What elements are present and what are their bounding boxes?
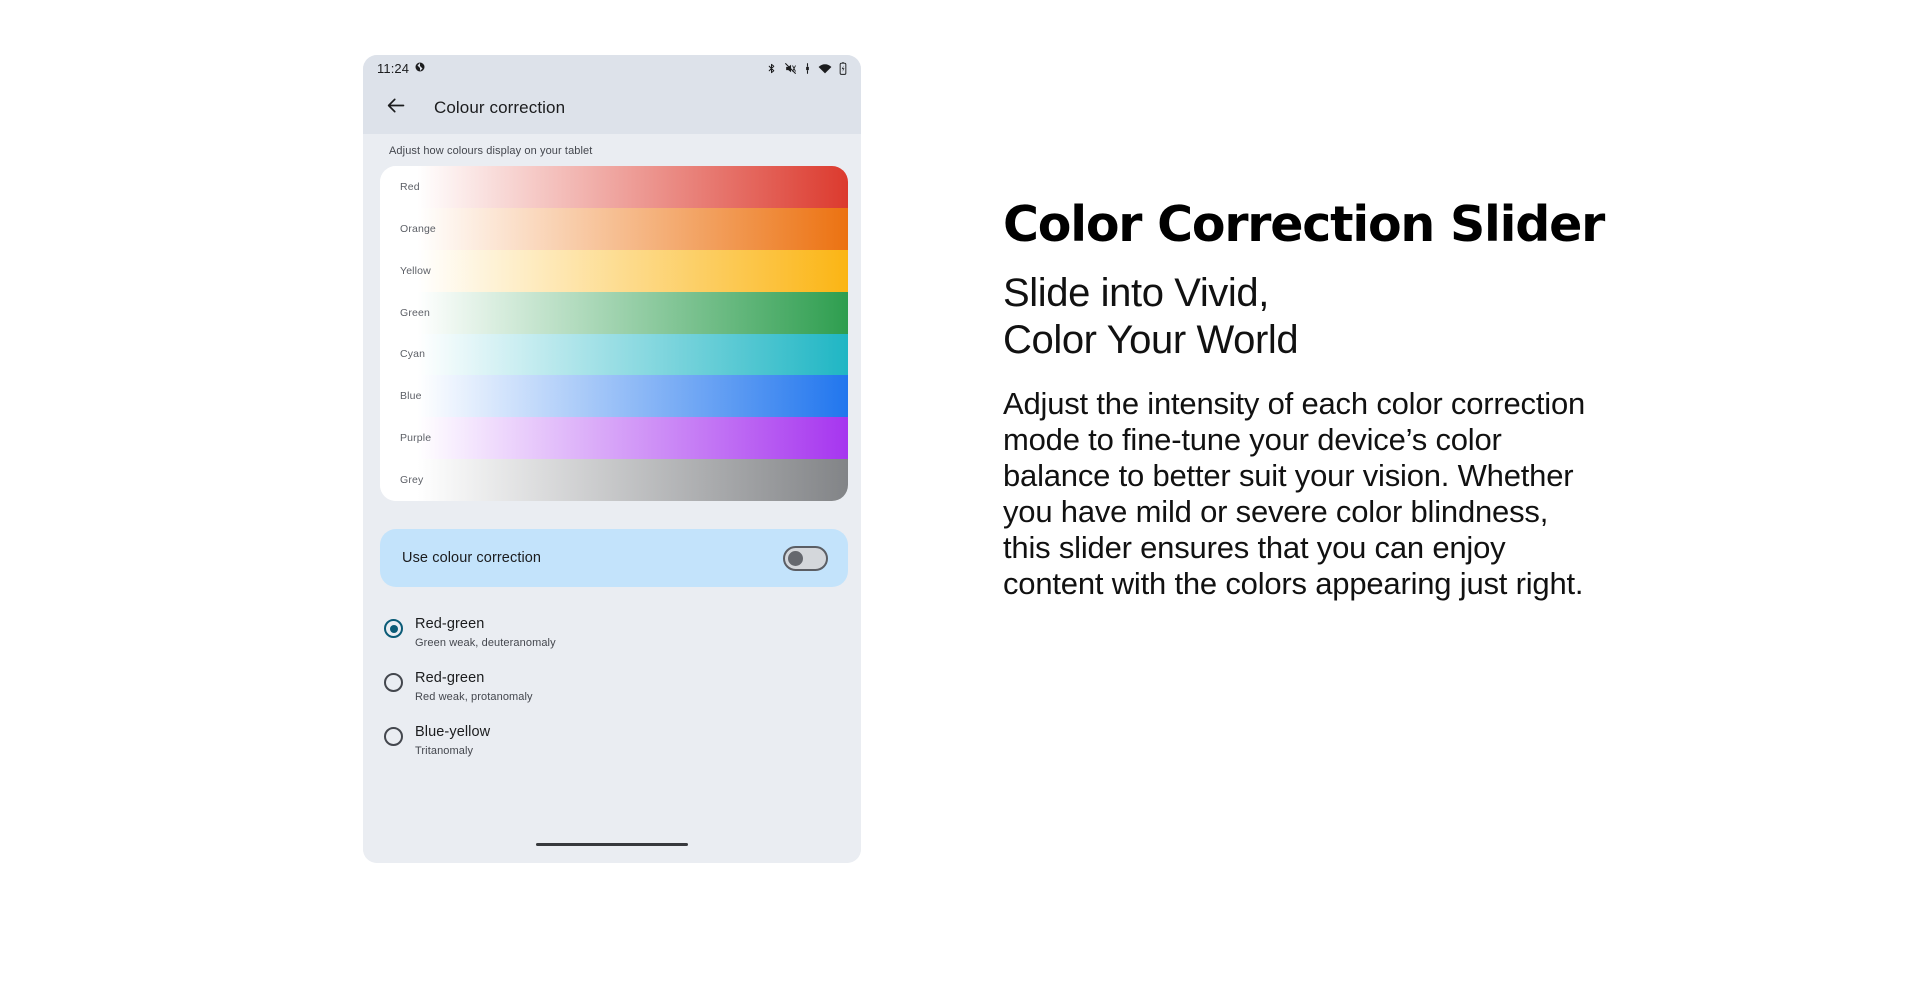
colour-band-grey: Grey <box>380 459 848 501</box>
status-time-group: 11:24 <box>377 61 426 76</box>
marketing-body: Adjust the intensity of each color corre… <box>1003 386 1593 602</box>
use-colour-correction-row[interactable]: Use colour correction <box>380 529 848 587</box>
option-title: Red-green <box>415 669 533 688</box>
marketing-subhead-line1: Slide into Vivid, <box>1003 270 1703 317</box>
colour-band-green: Green <box>380 292 848 334</box>
status-icons <box>766 62 847 75</box>
option-subtitle: Red weak, protanomaly <box>415 691 533 703</box>
page-root: 11:24 <box>0 0 1920 1005</box>
screen-subtitle: Adjust how colours display on your table… <box>363 134 861 166</box>
colour-band-label: Purple <box>380 432 431 444</box>
option-subtitle: Green weak, deuteranomaly <box>415 637 556 649</box>
switch-thumb <box>788 551 803 566</box>
vibrate-icon <box>804 62 811 75</box>
battery-icon <box>839 62 847 75</box>
colour-band-red: Red <box>380 166 848 208</box>
radio-icon[interactable] <box>384 619 403 638</box>
home-indicator[interactable] <box>536 843 688 846</box>
colour-band-label: Cyan <box>380 348 425 360</box>
colour-band-label: Blue <box>380 390 422 402</box>
screen-content: Adjust how colours display on your table… <box>363 134 861 863</box>
colour-band-label: Grey <box>380 474 423 486</box>
back-button[interactable] <box>379 91 413 125</box>
option-red-green-deuteranomaly[interactable]: Red-green Green weak, deuteranomaly <box>381 608 843 662</box>
colour-band-orange: Orange <box>380 208 848 250</box>
option-subtitle: Tritanomaly <box>415 745 490 757</box>
marketing-panel: Color Correction Slider Slide into Vivid… <box>1003 196 1703 602</box>
option-red-green-protanomaly[interactable]: Red-green Red weak, protanomaly <box>381 662 843 716</box>
colour-band-label: Yellow <box>380 265 431 277</box>
colour-band-label: Red <box>380 181 420 193</box>
tablet-device-mock: 11:24 <box>363 55 861 863</box>
colour-band-label: Orange <box>380 223 436 235</box>
option-texts: Blue-yellow Tritanomaly <box>415 723 490 757</box>
option-texts: Red-green Green weak, deuteranomaly <box>415 615 556 649</box>
colour-band-yellow: Yellow <box>380 250 848 292</box>
app-bar: Colour correction <box>363 82 861 134</box>
option-texts: Red-green Red weak, protanomaly <box>415 669 533 703</box>
option-title: Red-green <box>415 615 556 634</box>
colour-band-purple: Purple <box>380 417 848 459</box>
option-title: Blue-yellow <box>415 723 490 742</box>
wifi-icon <box>818 63 832 75</box>
rotate-icon <box>414 61 426 76</box>
radio-icon[interactable] <box>384 727 403 746</box>
volume-off-icon <box>784 62 797 75</box>
status-time: 11:24 <box>377 61 409 76</box>
colour-band-label: Green <box>380 307 430 319</box>
use-colour-correction-label: Use colour correction <box>402 550 541 566</box>
radio-icon[interactable] <box>384 673 403 692</box>
option-blue-yellow-tritanomaly[interactable]: Blue-yellow Tritanomaly <box>381 716 843 770</box>
status-bar: 11:24 <box>363 55 861 82</box>
colour-band-cyan: Cyan <box>380 334 848 376</box>
marketing-subhead-line2: Color Your World <box>1003 317 1703 364</box>
bluetooth-icon <box>766 62 777 75</box>
colour-band-blue: Blue <box>380 375 848 417</box>
arrow-left-icon <box>386 95 407 121</box>
colour-preview-card: Red Orange Yellow Green Cyan Blue <box>380 166 848 501</box>
correction-mode-list: Red-green Green weak, deuteranomaly Red-… <box>363 608 861 770</box>
page-title: Colour correction <box>434 98 565 118</box>
marketing-headline: Color Correction Slider <box>1003 196 1703 254</box>
marketing-subhead: Slide into Vivid, Color Your World <box>1003 270 1703 364</box>
use-colour-correction-switch[interactable] <box>783 546 828 571</box>
